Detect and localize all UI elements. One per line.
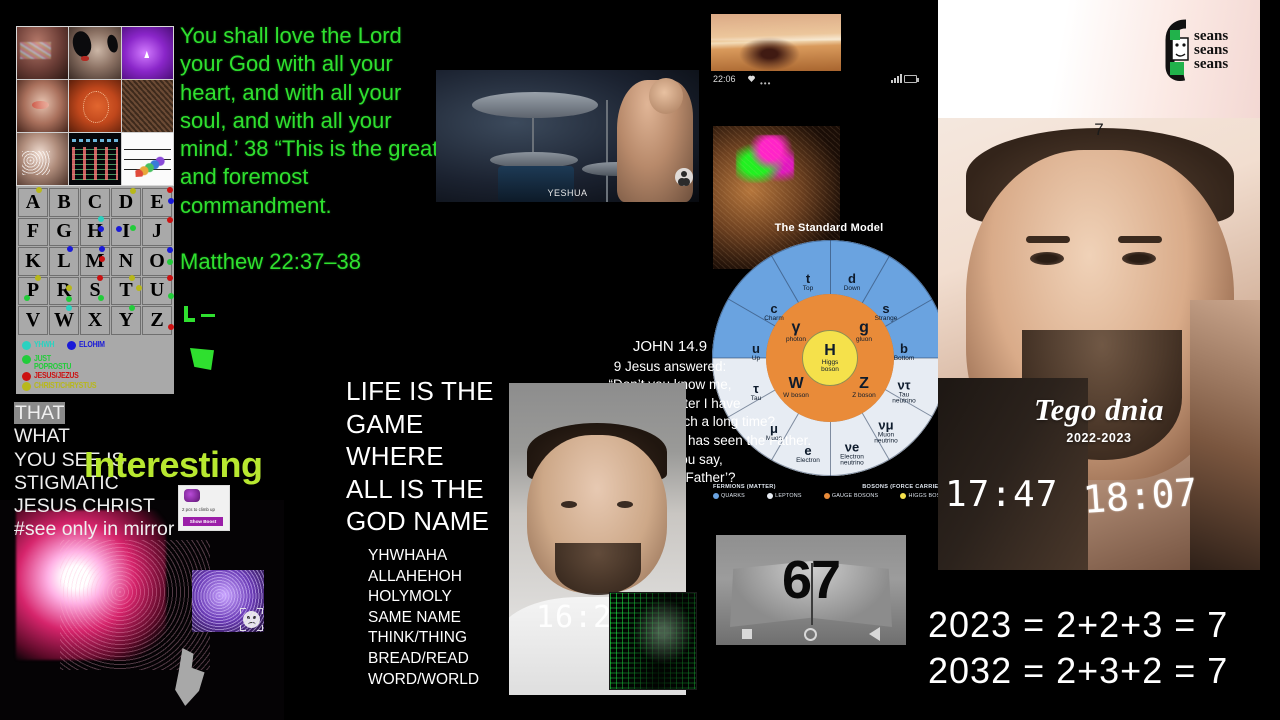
panel-eye-right	[1122, 252, 1156, 265]
life-subline: HOLYMOLY	[368, 587, 518, 608]
life-headline-line: ALL IS THE	[346, 473, 514, 506]
sad-face-icon	[243, 611, 260, 628]
channel-watermark-icon	[675, 168, 693, 186]
alphabet-cell-n[interactable]: N	[111, 247, 141, 276]
alphabet-letter: L	[57, 250, 70, 273]
collage-photo-8	[69, 133, 120, 185]
life-subline: ALLAHEHOH	[368, 567, 518, 588]
phone-statusbar	[891, 74, 917, 83]
alphabet-letter: T	[119, 279, 132, 302]
alphabet-cell-d[interactable]: D	[111, 188, 141, 217]
collage-photo-2	[69, 27, 120, 79]
cipher-dot	[67, 246, 73, 252]
alphabet-letter: B	[57, 191, 70, 214]
life-headline-line: WHERE	[346, 440, 514, 473]
android-navbar[interactable]	[716, 625, 906, 643]
macro-texture	[60, 540, 210, 670]
scripture-reference: Matthew 22:37–38	[180, 248, 448, 276]
particle-bottom: bBottom	[876, 342, 932, 362]
skin-macro-photo-top	[711, 14, 841, 71]
panel-brow-right	[1118, 236, 1162, 243]
green-blob-icon	[190, 348, 214, 370]
alphabet-letter: I	[122, 220, 130, 243]
green-corner-glyph-icon	[184, 306, 224, 322]
cipher-dot	[130, 188, 136, 194]
alphabet-cell-k[interactable]: K	[18, 247, 48, 276]
alphabet-letter: K	[25, 250, 41, 273]
collage-photo-6	[122, 80, 173, 132]
alphabet-letter: G	[56, 220, 72, 243]
alphabet-cell-o[interactable]: O	[142, 247, 172, 276]
seans-logo-icon: seansseansseans	[1152, 18, 1248, 82]
legend-quarks: QUARKS	[713, 493, 745, 499]
book-number: 67	[716, 549, 906, 611]
cipher-dot	[24, 295, 30, 301]
alphabet-cell-i[interactable]: I	[111, 218, 141, 247]
alphabet-cell-u[interactable]: U	[142, 277, 172, 306]
alphabet-cell-z[interactable]: Z	[142, 306, 172, 335]
alphabet-cell-c[interactable]: C	[80, 188, 110, 217]
cipher-dot	[130, 225, 136, 231]
alphabet-cell-m[interactable]: M	[80, 247, 110, 276]
legend-item-label: ELOHIM	[79, 340, 105, 349]
john-heading: JOHN 14.9	[505, 338, 835, 357]
photo-collage-grid	[16, 26, 174, 186]
cipher-dot	[136, 285, 142, 291]
alphabet-grid: ABCDEFGHIJKLMNOPRSTUVWXYZ	[18, 188, 172, 335]
matrix-rain-inset	[609, 592, 697, 690]
alphabet-cell-j[interactable]: J	[142, 218, 172, 247]
alphabet-cell-b[interactable]: B	[49, 188, 79, 217]
life-headline-line: GOD NAME	[346, 505, 514, 538]
leptons-label: LEPTONS	[775, 493, 801, 499]
selfie-eye-right	[617, 501, 633, 508]
right-panel-time-right: 18:07	[1082, 470, 1199, 522]
legend-item: CHRIST/CHRYSTUS	[22, 381, 110, 391]
cipher-dot	[66, 285, 72, 291]
legend-dot-icon	[22, 372, 31, 381]
legend-item: YHWH	[22, 340, 59, 350]
cipher-dot	[97, 275, 103, 281]
heart-icon	[748, 75, 755, 82]
cipher-dot	[129, 275, 135, 281]
quarks-label: QUARKS	[721, 493, 745, 499]
interesting-overlay-text: Interesting	[84, 444, 263, 486]
cipher-dot	[167, 275, 173, 281]
life-headline: LIFE IS THEGAMEWHEREALL IS THEGOD NAME	[346, 375, 514, 538]
cipher-dot	[35, 275, 41, 281]
cipher-dot	[98, 295, 104, 301]
legend-item-label: JUST POPROSTU	[34, 354, 71, 372]
john-line: 9 Jesus answered:	[505, 358, 835, 377]
scripture-text-block: You shall love the Lord your God with al…	[180, 22, 448, 276]
legend-item-label: YHWH	[34, 340, 54, 349]
numerology-equation: 2023 = 2+2+3 = 7	[928, 602, 1268, 648]
back-triangle-icon[interactable]	[869, 627, 880, 641]
collage-photo-3	[122, 27, 173, 79]
drummer-video-frame[interactable]	[436, 70, 699, 202]
alphabet-cell-v[interactable]: V	[18, 306, 48, 335]
panel-eye-left	[1030, 252, 1064, 265]
cipher-dot	[129, 305, 135, 311]
right-panel-page-number: 7	[938, 120, 1260, 140]
right-panel-title: Tego dnia	[938, 392, 1260, 428]
cipher-dot	[116, 226, 122, 232]
alphabet-cell-e[interactable]: E	[142, 188, 172, 217]
boson-gluon: ggluon	[836, 320, 892, 344]
mirror-text-line: JESUS CHRIST	[14, 495, 254, 518]
purple-macro-inset	[192, 570, 264, 632]
alphabet-letter: Y	[119, 309, 133, 332]
square-icon[interactable]	[742, 629, 752, 639]
svg-text:seans: seans	[1194, 56, 1228, 72]
legend-item-label: JESUS/JEZUS	[34, 371, 79, 380]
legend-dot-icon	[22, 355, 31, 364]
cipher-dot	[36, 187, 42, 193]
alphabet-letter: W	[54, 309, 74, 332]
alphabet-letter: V	[26, 309, 40, 332]
gauge-label: GAUGE BOSONS	[832, 493, 878, 499]
legend-item-label: CHRIST/CHRYSTUS	[34, 381, 96, 390]
right-panel-years: 2022-2023	[938, 431, 1260, 445]
life-headline-line: LIFE IS THE	[346, 375, 514, 408]
panel-brow-left	[1026, 236, 1070, 243]
alphabet-letter: F	[27, 220, 39, 243]
alphabet-letter: Z	[150, 309, 163, 332]
quarks-swatch-icon	[713, 493, 719, 499]
cymbal-stand-2	[606, 100, 608, 202]
alphabet-cell-g[interactable]: G	[49, 218, 79, 247]
cipher-dot	[167, 247, 173, 253]
phone-timestamp: 22:06	[713, 74, 736, 84]
drummer-head	[649, 78, 683, 114]
cipher-dot	[98, 226, 104, 232]
cipher-dot	[99, 256, 105, 262]
drummer-caption: YESHUA	[436, 188, 699, 198]
legend-row: CHRIST/CHRYSTUS	[22, 381, 170, 391]
alphabet-letter: C	[88, 191, 102, 214]
legend-item: ELOHIM	[67, 340, 110, 350]
mirror-text-line: THAT	[14, 402, 254, 425]
ar-focus-brackets-icon	[240, 608, 263, 631]
alphabet-cell-t[interactable]: T	[111, 277, 141, 306]
alphabet-legend: YHWHELOHIMJUST POPROSTUJESUS/JEZUSCHRIST…	[18, 335, 172, 395]
alphabet-letter: A	[26, 191, 40, 214]
cipher-dot	[66, 296, 72, 302]
legend-dot-icon	[67, 341, 76, 350]
alphabet-letter: E	[150, 191, 163, 214]
alphabet-cell-p[interactable]: P	[18, 277, 48, 306]
alphabet-cell-y[interactable]: Y	[111, 306, 141, 335]
life-subline: YHWHAHA	[368, 546, 518, 567]
particle-down: dDown	[824, 272, 880, 292]
alphabet-cell-f[interactable]: F	[18, 218, 48, 247]
collage-photo-9	[122, 133, 173, 185]
legend-leptons: LEPTONS	[767, 493, 801, 499]
life-subline: WORD/WORLD	[368, 670, 518, 691]
boson-z: ZZ boson	[836, 376, 892, 400]
signal-bars-icon	[891, 74, 902, 83]
legend-item: JUST POPROSTU	[22, 354, 79, 372]
alphabet-cipher-panel: ABCDEFGHIJKLMNOPRSTUVWXYZ YHWHELOHIMJUST…	[16, 186, 174, 394]
selfie-beard	[555, 543, 641, 595]
life-headline-line: GAME	[346, 408, 514, 441]
alphabet-letter: U	[150, 279, 164, 302]
alphabet-cell-x[interactable]: X	[80, 306, 110, 335]
selfie-eye-left	[561, 501, 577, 508]
gauge-swatch-icon	[824, 493, 830, 499]
legend-gauge: GAUGE BOSONS	[824, 493, 878, 499]
legend-dot-icon	[22, 341, 31, 350]
collage-photo-5	[69, 80, 120, 132]
collage-photo-7	[17, 133, 68, 185]
alphabet-cell-l[interactable]: L	[49, 247, 79, 276]
collage-photo-1	[17, 27, 68, 79]
leptons-swatch-icon	[767, 493, 773, 499]
alphabet-letter: X	[88, 309, 102, 332]
mirror-text-line: #see only in mirror	[14, 518, 254, 541]
cipher-dot	[168, 293, 174, 299]
cipher-dot	[167, 259, 173, 265]
cipher-dot	[167, 187, 173, 193]
alphabet-letter: D	[119, 191, 133, 214]
standard-model-title: The Standard Model	[713, 222, 945, 234]
more-options-icon[interactable]: •••	[760, 79, 771, 88]
alphabet-cell-r[interactable]: R	[49, 277, 79, 306]
cipher-dot	[168, 198, 174, 204]
scripture-body: You shall love the Lord your God with al…	[180, 23, 438, 218]
numerology-equations: 2023 = 2+2+3 = 72032 = 2+3+2 = 7	[928, 602, 1268, 694]
life-subline: BREAD/READ	[368, 649, 518, 670]
alphabet-cell-h[interactable]: H	[80, 218, 110, 247]
alphabet-cell-s[interactable]: S	[80, 277, 110, 306]
life-subline: THINK/THING	[368, 628, 518, 649]
legend-row: YHWHELOHIMJUST POPROSTU	[22, 340, 170, 372]
cipher-dot	[168, 324, 174, 330]
numerology-equation: 2032 = 2+3+2 = 7	[928, 648, 1268, 694]
life-sublines: YHWHAHAALLAHEHOHHOLYMOLYSAME NAMETHINK/T…	[368, 546, 518, 690]
higgs-swatch-icon	[900, 493, 906, 499]
legend-dot-icon	[22, 382, 31, 391]
alphabet-letter: J	[152, 220, 162, 243]
alphabet-cell-w[interactable]: W	[49, 306, 79, 335]
alphabet-cell-a[interactable]: A	[18, 188, 48, 217]
life-subline: SAME NAME	[368, 608, 518, 629]
collage-photo-4	[17, 80, 68, 132]
circle-icon[interactable]	[804, 628, 817, 641]
bosons-header: BOSONS (FORCE CARRIERS)	[862, 484, 949, 490]
cipher-dot	[99, 246, 105, 252]
cymbal-icon	[472, 92, 598, 118]
collage-canvas: ABCDEFGHIJKLMNOPRSTUVWXYZ YHWHELOHIMJUST…	[0, 0, 1280, 720]
cipher-dot	[167, 217, 173, 223]
alphabet-letter: N	[119, 250, 133, 273]
battery-icon	[904, 75, 917, 83]
alphabet-letter: O	[149, 250, 165, 273]
right-panel-time-left: 17:47	[945, 474, 1058, 515]
book-photo-frame[interactable]: 67	[716, 535, 906, 645]
